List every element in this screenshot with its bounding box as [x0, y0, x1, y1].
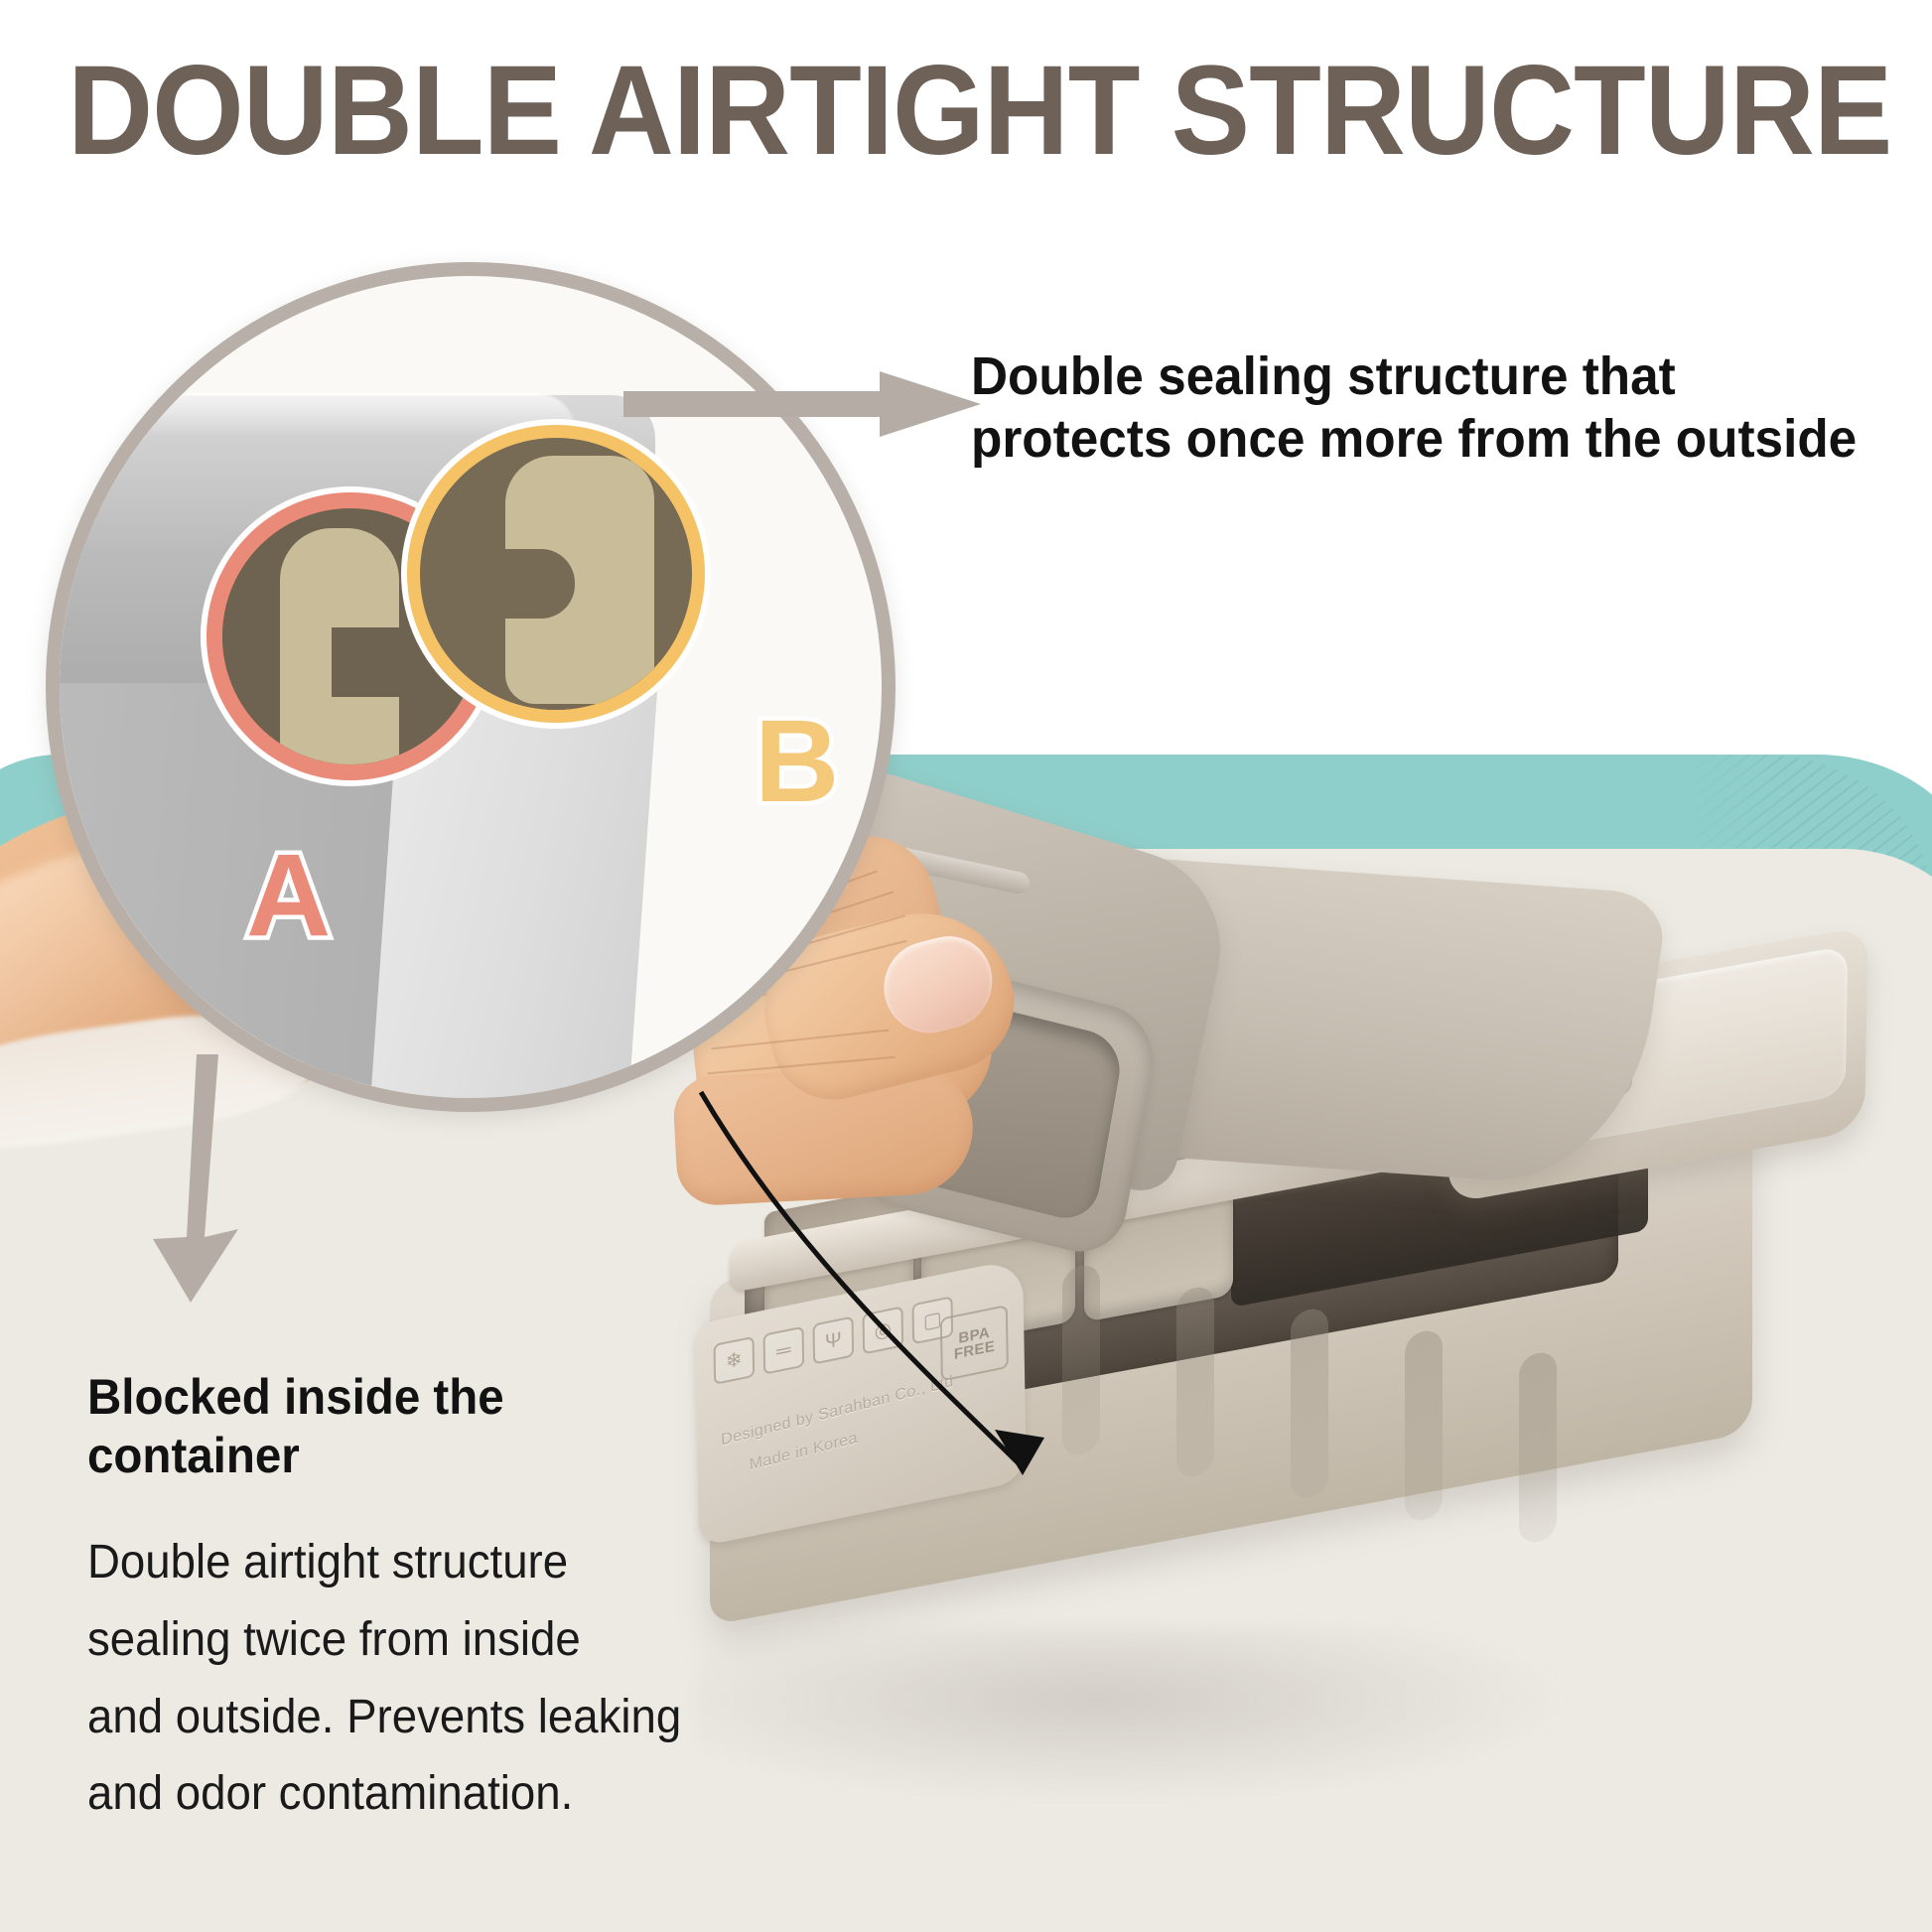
- seal-label-b: B: [755, 703, 839, 820]
- callout-bottom-body-line3: and outside. Prevents leaking: [87, 1679, 748, 1756]
- cross-section-lid-highlight: [99, 393, 576, 437]
- callout-bottom-body-line2: sealing twice from inside: [87, 1601, 748, 1679]
- tray-grip-flute: [1405, 1327, 1443, 1523]
- product-photo: ❄ ═ Ψ ◎ ▢ BPA FREE Designed by Sarahban …: [635, 923, 1932, 1757]
- page-title: DOUBLE AIRTIGHT STRUCTURE: [68, 48, 1864, 175]
- arrow-down-icon: [139, 1054, 268, 1303]
- callout-bottom-heading: Blocked inside the container: [87, 1368, 672, 1485]
- callout-top: Double sealing structure that protects o…: [971, 345, 1801, 471]
- tray-grip-flute: [1291, 1306, 1328, 1501]
- callout-bottom-heading-line1: Blocked inside the: [87, 1368, 672, 1427]
- callout-bottom-body: Double airtight structure sealing twice …: [87, 1524, 748, 1833]
- callout-top-line1: Double sealing structure that: [971, 345, 1801, 408]
- arrow-right-icon: [623, 369, 981, 439]
- tray-grip-flute: [1519, 1349, 1557, 1545]
- callout-bottom-body-line1: Double airtight structure: [87, 1524, 748, 1601]
- callout-top-line2: protects once more from the outside: [971, 408, 1801, 471]
- no-microwave-icon: ═: [762, 1326, 804, 1375]
- snowflake-freezer-icon: ❄: [713, 1336, 755, 1385]
- callout-bottom-body-line4: and odor contamination.: [87, 1755, 748, 1833]
- seal-detail-ring-b: [407, 425, 705, 723]
- infographic-canvas: DOUBLE AIRTIGHT STRUCTURE ❄ ═ Ψ ◎ ▢: [0, 0, 1932, 1932]
- ring-b-seal-notch: [505, 549, 575, 619]
- callout-bottom-heading-line2: container: [87, 1427, 672, 1485]
- seal-label-a: A: [246, 837, 331, 954]
